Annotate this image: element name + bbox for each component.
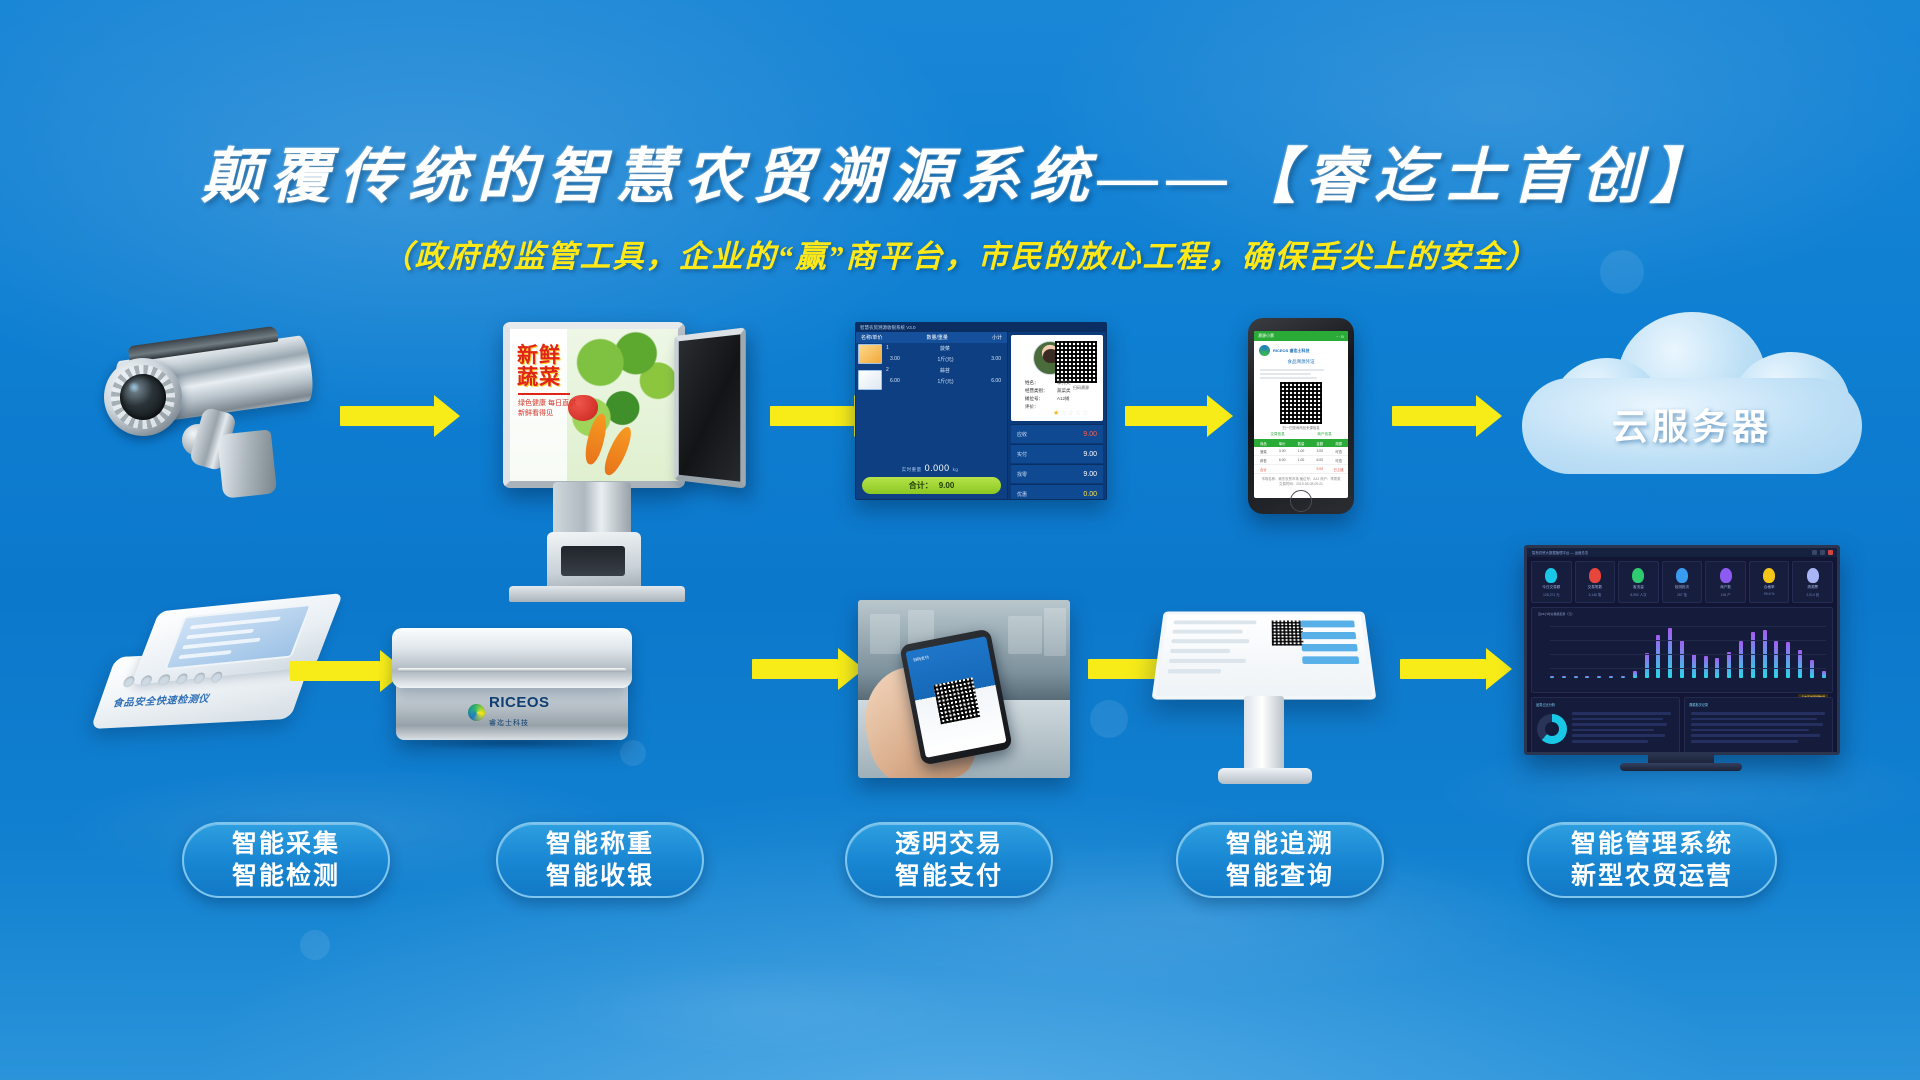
qr-caption: 扫码溯源 [1073, 385, 1089, 391]
merchant-card: 扫码溯源 姓名：李秀英 经营类别：蔬菜类 摊位号：A12摊 评价： ★☆☆☆☆ [1011, 335, 1103, 421]
flow-arrow [1125, 395, 1233, 437]
pill-line-2: 智能支付 [895, 860, 1003, 892]
kpi-card-row: 今日交易额128,371 元 交易笔数3,146 笔 客流量8,952 人次 检… [1527, 557, 1837, 603]
security-camera [100, 340, 330, 520]
panel-title: 溯源批次记录 [1689, 702, 1828, 707]
summary-row: 优惠 0.00 [1011, 484, 1103, 500]
row-unit: 1斤(元) [937, 378, 953, 385]
kpi-card[interactable]: 今日交易额128,371 元 [1531, 561, 1572, 603]
tab-merchant[interactable]: 商户信息 [1317, 432, 1331, 437]
flow-diagram: 新鲜蔬菜 绿色健康 每日直供新鲜看得见 智慧农贸溯源收银系统 V3.0 名称/单… [0, 0, 1920, 1080]
flow-arrow [290, 650, 406, 692]
pos-ad-headline: 新鲜蔬菜 [517, 345, 573, 389]
summary-row: 找零 9.00 [1011, 464, 1103, 483]
brand-name: RICEOS 睿迄士科技 [1273, 348, 1309, 353]
payment-screen-header: 扫码支付 [913, 654, 930, 663]
scale-seam [398, 668, 626, 672]
trace-records-panel[interactable]: 溯源批次记录 [1684, 697, 1833, 755]
phone-tabs[interactable]: 交易信息 商户信息 [1254, 430, 1348, 439]
pos-terminal: 新鲜蔬菜 绿色健康 每日直供新鲜看得见 [495, 322, 775, 622]
monitor-foot [1620, 763, 1742, 771]
rating-stars: ★☆☆☆☆ [1053, 409, 1089, 417]
phone-footer-info: 市场名称：城东农贸市场 摊位号：A12 商户：李秀英 交易时间：2019-05-… [1254, 474, 1348, 490]
pill-line-1: 智能采集 [232, 828, 340, 860]
field-label: 评价： [1025, 403, 1049, 411]
mobile-payment: 扫码支付 [858, 600, 1070, 778]
tab-transaction[interactable]: 交易信息 [1270, 432, 1284, 437]
summary-value: 9.00 [1083, 431, 1097, 438]
category-share-panel[interactable]: 品类占比分析 [1531, 697, 1680, 755]
cloud-shape-icon: 云服务器 [1522, 312, 1862, 492]
pos-base [509, 586, 685, 602]
brand-name-cn: 睿迄士科技 [489, 720, 529, 727]
kiosk-qr-code[interactable] [1272, 620, 1304, 645]
pos-ad-image: 新鲜蔬菜 绿色健康 每日直供新鲜看得见 [510, 329, 678, 481]
pill-line-1: 智能称重 [546, 828, 654, 860]
summary-label: 实付 [1017, 451, 1027, 458]
pill-line-2: 智能检测 [232, 860, 340, 892]
summary-label: 找零 [1017, 471, 1027, 478]
pos-receipt-printer [547, 532, 641, 594]
kiosk-info-lines [1167, 620, 1257, 679]
th-price: 单价 [1273, 439, 1292, 447]
brand-name: RICEOS [489, 694, 550, 711]
maximize-icon[interactable] [1820, 550, 1825, 555]
flow-arrow [1392, 395, 1502, 437]
pill-line-1: 智能管理系统 [1571, 828, 1733, 860]
pill-line-2: 智能收银 [546, 860, 654, 892]
weight-label: 实时重量 [902, 467, 922, 472]
phone-section-title: 食品溯源凭证 [1254, 358, 1348, 367]
panel-list [1572, 712, 1675, 746]
minimize-icon[interactable] [1812, 550, 1817, 555]
flow-arrow [340, 395, 460, 437]
trace-qr-code[interactable] [1280, 382, 1322, 424]
kpi-card[interactable]: 溯源票2,914 张 [1792, 561, 1833, 603]
cashier-item-list: 名称/单价 数量/重量 小计 1 菠菜 3.00 1斤(元) 3.00 [856, 332, 1008, 499]
summary-value: 0.00 [1083, 491, 1097, 498]
row-amount: 3.00 [991, 356, 1001, 363]
self-service-kiosk [1158, 600, 1370, 790]
pill-line-2: 智能查询 [1226, 860, 1334, 892]
summary-row: 应收 9.00 [1011, 424, 1103, 443]
kpi-card[interactable]: 检测批次287 批 [1662, 561, 1703, 603]
kpi-card[interactable]: 交易笔数3,146 笔 [1575, 561, 1616, 603]
total-bar[interactable]: 合计： 9.00 [862, 477, 1001, 494]
pill-line-2: 新型农贸运营 [1571, 860, 1733, 892]
col-qty: 数量/重量 [926, 334, 947, 341]
field-value: A12摊 [1057, 396, 1070, 401]
kpi-card[interactable]: 客流量8,952 人次 [1618, 561, 1659, 603]
smartphone-trace: 溯源小票 ⋯ ⊙ RICEOS 睿迄士科技 食品溯源凭证 扫一扫查询商品来源信息… [1248, 318, 1354, 514]
app-bar-title: 溯源小票 [1258, 333, 1274, 339]
pos-customer-display: 新鲜蔬菜 绿色健康 每日直供新鲜看得见 [503, 322, 685, 488]
kiosk-touchscreen[interactable] [1152, 611, 1377, 699]
dashboard-titlebar: 智慧农贸大数据管理平台 — 运营总览 [1527, 548, 1837, 557]
col-name: 名称/单价 [861, 334, 882, 341]
bi-dashboard: 智慧农贸大数据管理平台 — 运营总览 今日交易额128,371 元 交易笔数3,… [1524, 545, 1844, 775]
pill-management-system[interactable]: 智能管理系统 新型农贸运营 [1527, 822, 1777, 898]
more-icon[interactable]: ⋯ ⊙ [1336, 334, 1344, 339]
merchant-fields: 姓名：李秀英 经营类别：蔬菜类 摊位号：A12摊 评价： [1025, 379, 1071, 411]
row-index: 2 [886, 367, 889, 374]
dashboard-monitor[interactable]: 智慧农贸大数据管理平台 — 运营总览 今日交易额128,371 元 交易笔数3,… [1524, 545, 1840, 755]
chart-bars [1550, 618, 1826, 678]
home-button-icon[interactable] [1290, 490, 1312, 512]
row-name: 菠菜 [940, 345, 950, 352]
th-item: 商品 [1254, 439, 1273, 447]
item-thumbnail [858, 344, 882, 364]
panel-list [1691, 712, 1828, 746]
panel-title: 品类占比分析 [1536, 702, 1675, 707]
item-thumbnail [858, 370, 882, 390]
brand-logo-icon [1259, 345, 1270, 356]
row-qty: 6.00 [890, 378, 900, 385]
row-index: 1 [886, 345, 889, 352]
smartphone-device: 溯源小票 ⋯ ⊙ RICEOS 睿迄士科技 食品溯源凭证 扫一扫查询商品来源信息… [1248, 318, 1354, 514]
col-amount: 小计 [992, 334, 1002, 341]
cloud-server: 云服务器 [1522, 312, 1862, 502]
summary-row: 实付 9.00 [1011, 444, 1103, 463]
scale-brand-logo: RICEOS 睿迄士科技 [468, 694, 550, 730]
table-header: 商品 单价 数量 金额 溯源 [1254, 439, 1348, 447]
cashier-merchant-panel: 扫码溯源 姓名：李秀英 经营类别：蔬菜类 摊位号：A12摊 评价： ★☆☆☆☆ … [1008, 332, 1106, 499]
mobile-payment-photo: 扫码支付 [858, 600, 1070, 778]
summary-value: 9.00 [1083, 451, 1097, 458]
field-value: 李秀英 [1057, 380, 1071, 385]
donut-chart [1537, 714, 1567, 744]
cashier-software: 智慧农贸溯源收银系统 V3.0 名称/单价 数量/重量 小计 1 菠菜 [855, 322, 1107, 500]
field-label: 摊位号： [1025, 395, 1049, 403]
transaction-bar-chart[interactable]: 近24小时交易额走势（元） 点击查看明细数据 [1531, 607, 1833, 693]
table-row: 菠菜3.00 1.003.00 可查 [1254, 447, 1348, 456]
total-value: 9.00 [939, 481, 955, 490]
pill-smart-traceability[interactable]: 智能追溯 智能查询 [1176, 822, 1384, 898]
row-amount: 6.00 [991, 378, 1001, 385]
table-row: 蒜苔6.00 1.006.00 可查 [1254, 456, 1348, 465]
phone-screen[interactable]: 溯源小票 ⋯ ⊙ RICEOS 睿迄士科技 食品溯源凭证 扫一扫查询商品来源信息… [1254, 331, 1348, 498]
cashier-list-header: 名称/单价 数量/重量 小计 [856, 332, 1007, 343]
kiosk-action-buttons[interactable] [1300, 620, 1360, 669]
cashier-app-window[interactable]: 智慧农贸溯源收银系统 V3.0 名称/单价 数量/重量 小计 1 菠菜 [855, 322, 1107, 500]
pill-line-1: 智能追溯 [1226, 828, 1334, 860]
kiosk-base [1218, 768, 1312, 784]
cashier-window-titlebar: 智慧农贸溯源收银系统 V3.0 [856, 323, 1106, 332]
total-label: 合计： [909, 480, 933, 491]
field-label: 姓名： [1025, 379, 1049, 387]
th-trace: 溯源 [1329, 439, 1348, 447]
close-icon[interactable] [1828, 550, 1833, 555]
th-qty: 数量 [1292, 439, 1311, 447]
pos-ad-subtext: 绿色健康 每日直供新鲜看得见 [518, 399, 576, 419]
summary-value: 9.00 [1083, 471, 1097, 478]
pill-transparent-trade[interactable]: 透明交易 智能支付 [845, 822, 1053, 898]
th-amount: 金额 [1310, 439, 1329, 447]
table-row: 合计 9.00 已上链 [1254, 465, 1348, 474]
chart-title: 近24小时交易额走势（元） [1538, 612, 1574, 616]
flow-arrow [752, 648, 864, 690]
trace-qr-code[interactable] [1055, 341, 1097, 383]
pos-operator-display [674, 327, 746, 488]
kiosk-column [1244, 696, 1284, 774]
phone-app-bar: 溯源小票 ⋯ ⊙ [1254, 331, 1348, 341]
weight-unit: kg [953, 467, 959, 472]
cloud-label: 云服务器 [1522, 398, 1862, 450]
pill-line-1: 透明交易 [895, 828, 1003, 860]
summary-label: 应收 [1017, 431, 1027, 438]
payment-screen: 扫码支付 [905, 636, 1006, 758]
weight-value: 0.000 [925, 463, 950, 473]
dashboard-window-title: 智慧农贸大数据管理平台 — 运营总览 [1527, 550, 1809, 555]
pill-smart-weighing[interactable]: 智能称重 智能收银 [496, 822, 704, 898]
payment-qr-code[interactable] [933, 678, 980, 725]
kpi-card[interactable]: 合格率99.6 % [1749, 561, 1790, 603]
field-label: 经营类别： [1025, 387, 1049, 395]
phone-brand: RICEOS 睿迄士科技 [1254, 341, 1348, 358]
electronic-scale: RICEOS 睿迄士科技 [392, 628, 640, 758]
row-qty: 3.00 [890, 356, 900, 363]
row-unit: 1斤(元) [937, 356, 953, 363]
row-name: 蒜苔 [940, 367, 950, 374]
summary-label: 优惠 [1017, 491, 1027, 498]
dashboard-panels: 品类占比分析 溯源批次记录 [1531, 697, 1833, 755]
pill-smart-collection[interactable]: 智能采集 智能检测 [182, 822, 390, 898]
camera-wall-mount-icon [217, 429, 277, 498]
field-value: 蔬菜类 [1057, 388, 1071, 393]
phone-info-lines [1254, 369, 1348, 379]
brand-mark-icon [468, 704, 485, 721]
kpi-card[interactable]: 商户数136 户 [1705, 561, 1746, 603]
scale-weighing-plate [392, 628, 632, 688]
scale-weight-readout: 实时重量0.000 kg [856, 463, 1007, 473]
flow-arrow [1400, 648, 1512, 690]
